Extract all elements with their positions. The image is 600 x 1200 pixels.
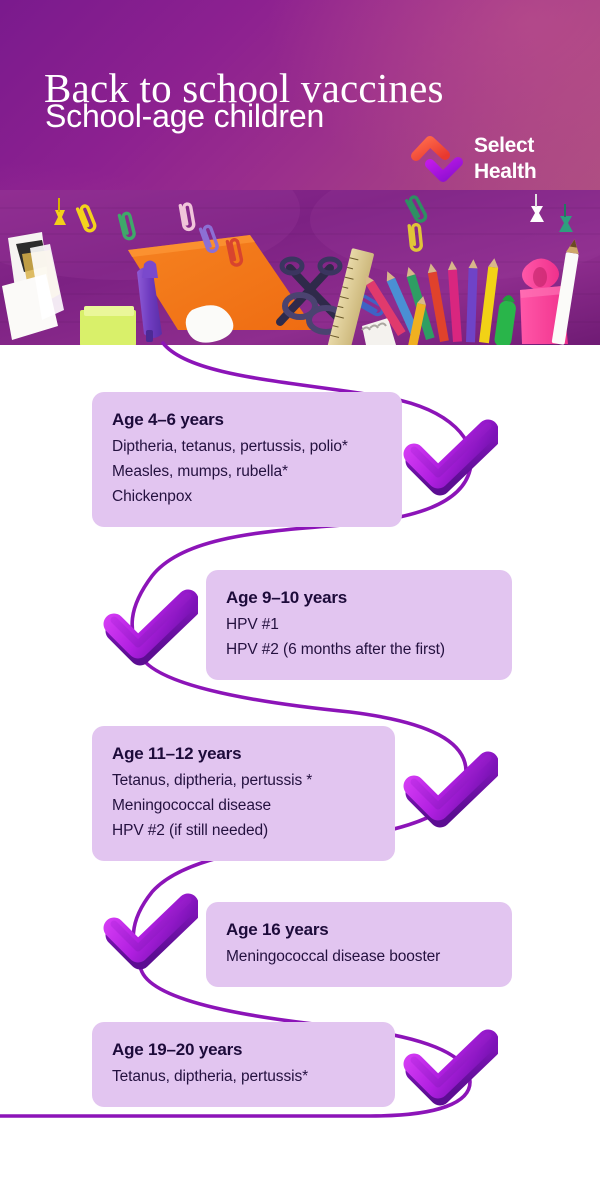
card-line: HPV #2 (6 months after the first)	[226, 637, 492, 662]
timeline-card: Age 16 years Meningococcal disease boost…	[206, 902, 512, 987]
card-line: Chickenpox	[112, 484, 382, 509]
card-line: Tetanus, diptheria, pertussis *	[112, 768, 375, 793]
card-title: Age 9–10 years	[226, 586, 492, 610]
card-line: HPV #2 (if still needed)	[112, 818, 375, 843]
card-line: Tetanus, diptheria, pertussis*	[112, 1064, 375, 1089]
checkmark-icon	[398, 748, 498, 830]
card-line: HPV #1	[226, 612, 492, 637]
checkmark-icon	[98, 890, 198, 972]
card-title: Age 19–20 years	[112, 1038, 375, 1062]
selecthealth-logo-mark-icon	[410, 132, 466, 188]
card-title: Age 16 years	[226, 918, 492, 942]
checkmark-icon	[98, 586, 198, 668]
school-supplies-photo	[0, 190, 600, 345]
header-banner: Back to school vaccines School-age child…	[0, 0, 600, 345]
logo-text-line2: Health	[474, 159, 536, 185]
logo-text-line1: Select	[474, 133, 536, 159]
infographic-page: Back to school vaccines School-age child…	[0, 0, 600, 1200]
card-line: Meningococcal disease	[112, 793, 375, 818]
logo-text: Select Health	[474, 133, 536, 185]
checkmark-icon	[398, 1026, 498, 1108]
checkmark-icon	[398, 416, 498, 498]
timeline-card: Age 11–12 years Tetanus, diptheria, pert…	[92, 726, 395, 861]
card-line: Diptheria, tetanus, pertussis, polio*	[112, 434, 382, 459]
card-line: Meningococcal disease booster	[226, 944, 492, 969]
card-title: Age 4–6 years	[112, 408, 382, 432]
card-line: Measles, mumps, rubella*	[112, 459, 382, 484]
timeline-card: Age 9–10 years HPV #1 HPV #2 (6 months a…	[206, 570, 512, 680]
timeline-card: Age 19–20 years Tetanus, diptheria, pert…	[92, 1022, 395, 1107]
timeline-card: Age 4–6 years Diptheria, tetanus, pertus…	[92, 392, 402, 527]
page-subtitle: School-age children	[45, 97, 565, 135]
card-title: Age 11–12 years	[112, 742, 375, 766]
selecthealth-logo: Select Health	[410, 132, 570, 188]
